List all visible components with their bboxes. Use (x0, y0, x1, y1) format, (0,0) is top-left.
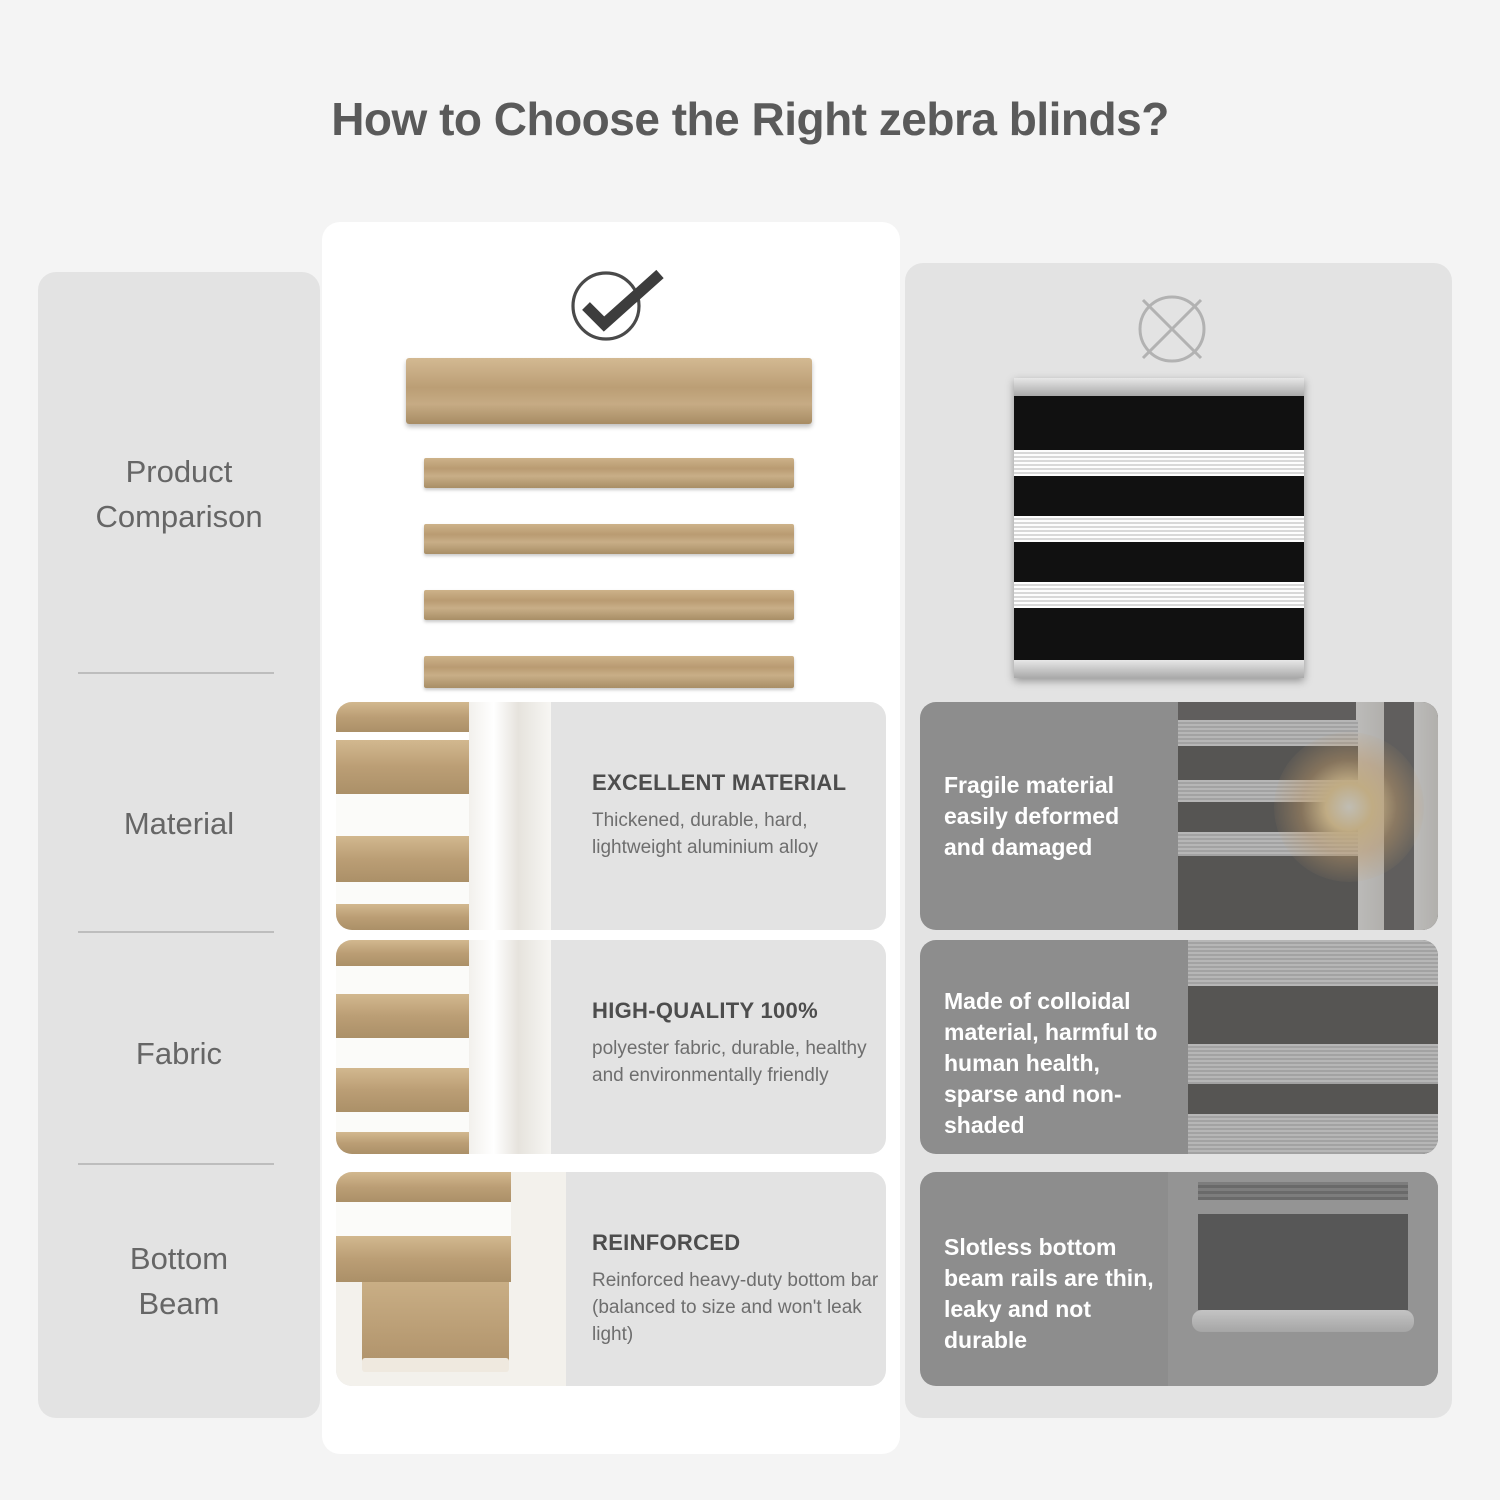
row-divider (78, 1163, 274, 1165)
row-divider (78, 672, 274, 674)
row-label-product-comparison: Product Comparison (38, 450, 320, 540)
good-bottom-beam-photo (336, 1172, 566, 1386)
page-title: How to Choose the Right zebra blinds? (0, 92, 1500, 146)
good-product-image (406, 358, 812, 706)
good-fabric-body: polyester fabric, durable, healthy and e… (592, 1036, 872, 1090)
good-bottom-beam-card: REINFORCED Reinforced heavy-duty bottom … (336, 1172, 886, 1386)
bad-material-text: Fragile material easily deformed and dam… (944, 770, 1164, 863)
good-material-card: EXCELLENT MATERIAL Thickened, durable, h… (336, 702, 886, 930)
blind-bottom-bar (1014, 660, 1304, 678)
bad-fabric-text: Made of colloidal material, harmful to h… (944, 986, 1174, 1141)
row-label-fabric: Fabric (38, 1032, 320, 1077)
row-label-line: Comparison (38, 495, 320, 540)
blind-sheer-stripe (1014, 450, 1304, 476)
blind-sheer-stripe (1014, 516, 1304, 542)
good-material-photo (336, 702, 551, 930)
blind-headrail (1014, 378, 1304, 396)
good-bottom-beam-text: REINFORCED Reinforced heavy-duty bottom … (592, 1230, 882, 1349)
bad-bottom-beam-photo (1168, 1172, 1438, 1386)
good-fabric-heading: HIGH-QUALITY 100% (592, 998, 872, 1024)
good-bottom-beam-heading: REINFORCED (592, 1230, 882, 1256)
good-fabric-photo (336, 940, 551, 1154)
row-label-line: Product (38, 450, 320, 495)
row-label-line: Beam (38, 1282, 320, 1327)
good-bottom-beam-body: Reinforced heavy-duty bottom bar (balanc… (592, 1268, 882, 1349)
blind-bottom-bar (424, 656, 794, 688)
row-label-material: Material (38, 802, 320, 847)
bad-material-photo (1178, 702, 1438, 930)
good-material-body: Thickened, durable, hard, lightweight al… (592, 808, 862, 862)
bad-product-image (1014, 378, 1304, 678)
good-material-text: EXCELLENT MATERIAL Thickened, durable, h… (592, 770, 862, 862)
bad-fabric-photo (1188, 940, 1438, 1154)
bad-material-card: Fragile material easily deformed and dam… (920, 702, 1438, 930)
bad-fabric-card: Made of colloidal material, harmful to h… (920, 940, 1438, 1154)
good-material-heading: EXCELLENT MATERIAL (592, 770, 862, 796)
blind-slat (424, 458, 794, 488)
row-label-line: Material (38, 802, 320, 847)
row-label-line: Fabric (38, 1032, 320, 1077)
row-divider (78, 931, 274, 933)
bad-bottom-beam-card: Slotless bottom beam rails are thin, lea… (920, 1172, 1438, 1386)
blind-headrail (406, 358, 812, 424)
cross-circle-icon (1133, 290, 1211, 368)
bad-bottom-beam-text: Slotless bottom beam rails are thin, lea… (944, 1232, 1164, 1356)
blind-slat (424, 524, 794, 554)
blind-sheer-stripe (1014, 582, 1304, 608)
good-fabric-text: HIGH-QUALITY 100% polyester fabric, dura… (592, 998, 872, 1090)
check-circle-icon (560, 268, 670, 348)
row-label-line: Bottom (38, 1237, 320, 1282)
blind-slat (424, 590, 794, 620)
row-label-bottom-beam: Bottom Beam (38, 1237, 320, 1327)
good-fabric-card: HIGH-QUALITY 100% polyester fabric, dura… (336, 940, 886, 1154)
